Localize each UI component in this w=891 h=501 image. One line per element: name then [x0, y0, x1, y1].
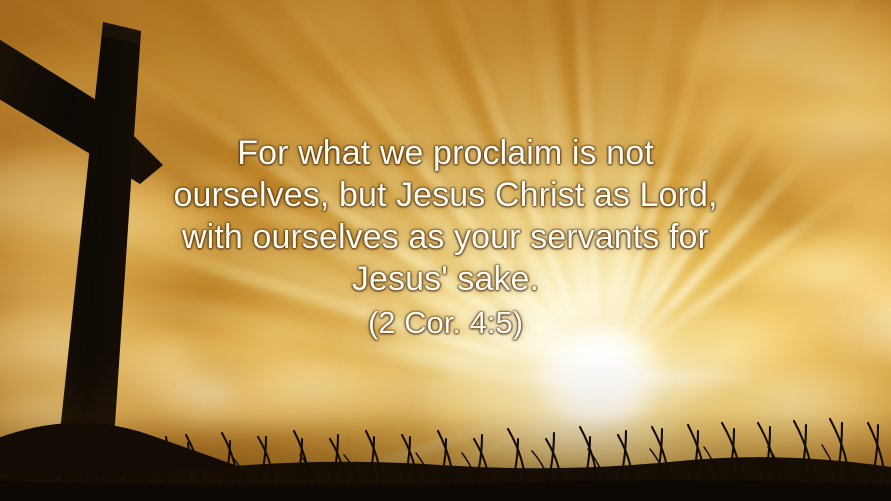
verse-line-3: with ourselves as your servants for	[16, 216, 875, 258]
verse-reference: (2 Cor. 4:5)	[16, 302, 875, 344]
verse-line-4: Jesus' sake.	[16, 258, 875, 300]
verse-text-block: For what we proclaim is not ourselves, b…	[0, 132, 891, 344]
verse-line-2: ourselves, but Jesus Christ as Lord,	[16, 174, 875, 216]
scripture-image-canvas: For what we proclaim is not ourselves, b…	[0, 0, 891, 501]
verse-line-1: For what we proclaim is not	[16, 132, 875, 174]
ground-and-grass	[0, 381, 891, 501]
